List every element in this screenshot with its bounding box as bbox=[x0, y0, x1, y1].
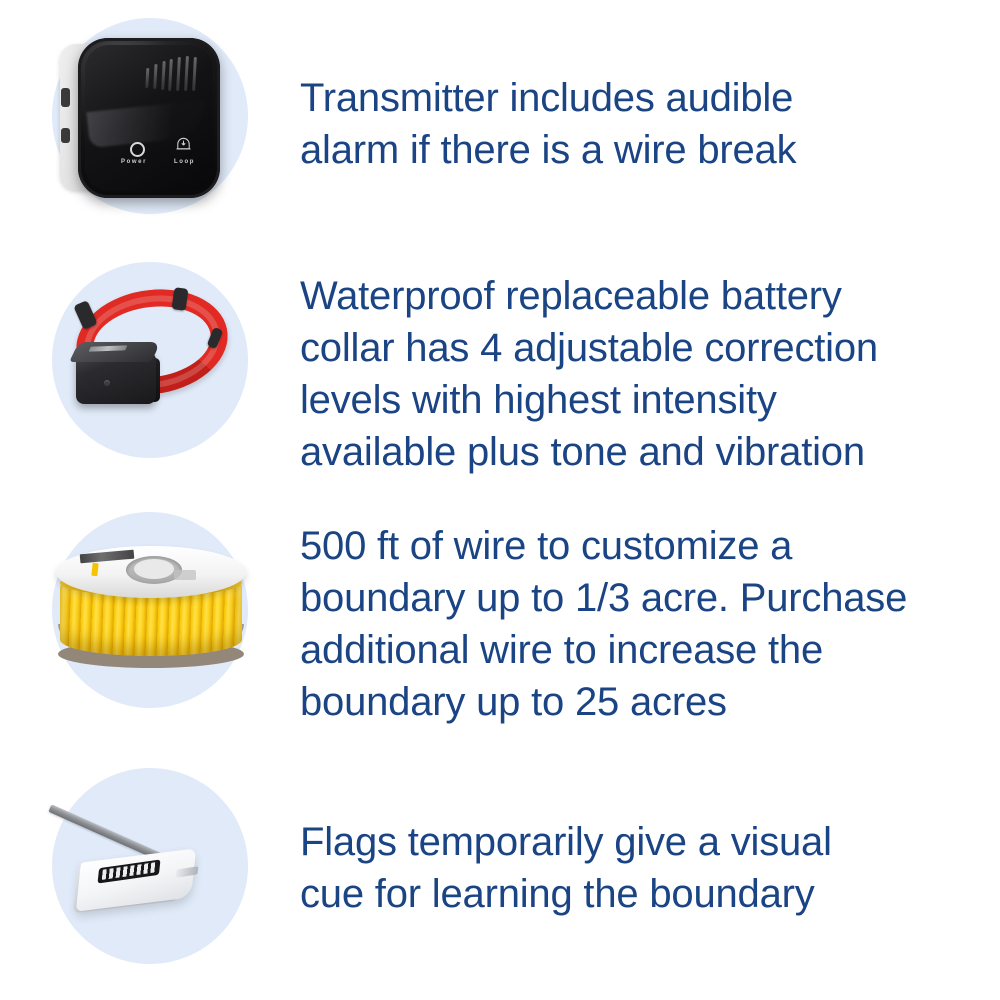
speaker-vent-icon bbox=[145, 56, 197, 92]
text-line: additional wire to increase the bbox=[300, 624, 982, 676]
text-line: 500 ft of wire to customize a bbox=[300, 520, 982, 572]
transmitter-device-image: Power Loop bbox=[58, 38, 248, 198]
collar-keeper bbox=[73, 300, 97, 330]
feature-row-flags: Flags temporarily give a visual cue for … bbox=[0, 768, 1000, 978]
circle-backdrop bbox=[52, 262, 248, 458]
transmitter-power-label: Power bbox=[121, 159, 147, 165]
circle-backdrop bbox=[52, 768, 248, 964]
text-line: cue for learning the boundary bbox=[300, 868, 982, 920]
receiver-box-screw bbox=[104, 380, 110, 386]
transmitter-front-face: Power Loop bbox=[78, 38, 220, 198]
receiver-collar-image bbox=[60, 280, 246, 440]
circle-backdrop bbox=[52, 512, 248, 708]
icon-well-collar bbox=[0, 262, 300, 458]
text-line: available plus tone and vibration bbox=[300, 426, 982, 478]
spool-hub-inner bbox=[134, 559, 174, 579]
text-line: Transmitter includes audible bbox=[300, 72, 982, 124]
bell-icon bbox=[174, 134, 193, 154]
text-line: boundary up to 25 acres bbox=[300, 676, 982, 728]
text-line: Waterproof replaceable battery bbox=[300, 270, 982, 322]
text-line: alarm if there is a wire break bbox=[300, 124, 982, 176]
transmitter-loop-label: Loop bbox=[174, 159, 195, 165]
feature-row-collar: Waterproof replaceable battery collar ha… bbox=[0, 262, 1000, 492]
text-line: collar has 4 adjustable correction bbox=[300, 322, 982, 374]
power-indicator-icon bbox=[130, 142, 145, 157]
flag-banner bbox=[76, 848, 196, 911]
feature-row-wire: 500 ft of wire to customize a boundary u… bbox=[0, 512, 1000, 742]
feature-text-collar: Waterproof replaceable battery collar ha… bbox=[300, 262, 1000, 478]
feature-text-wire: 500 ft of wire to customize a boundary u… bbox=[300, 512, 1000, 728]
icon-well-wire bbox=[0, 512, 300, 708]
text-line: Flags temporarily give a visual bbox=[300, 816, 982, 868]
feature-text-flags: Flags temporarily give a visual cue for … bbox=[300, 768, 1000, 920]
text-line: boundary up to 1/3 acre. Purchase bbox=[300, 572, 982, 624]
feature-row-transmitter: Power Loop Transmitter includes audible … bbox=[0, 18, 1000, 238]
feature-list-page: Power Loop Transmitter includes audible … bbox=[0, 0, 1000, 1000]
text-line: levels with highest intensity bbox=[300, 374, 982, 426]
wire-spool-image bbox=[54, 540, 250, 680]
spool-marking bbox=[174, 570, 196, 580]
icon-well-transmitter: Power Loop bbox=[0, 18, 300, 214]
feature-text-transmitter: Transmitter includes audible alarm if th… bbox=[300, 18, 1000, 176]
icon-well-flags bbox=[0, 768, 300, 964]
transmitter-port-notch bbox=[61, 88, 70, 107]
boundary-flag-image bbox=[52, 794, 252, 940]
circle-backdrop: Power Loop bbox=[52, 18, 248, 214]
transmitter-port-notch bbox=[61, 128, 70, 143]
